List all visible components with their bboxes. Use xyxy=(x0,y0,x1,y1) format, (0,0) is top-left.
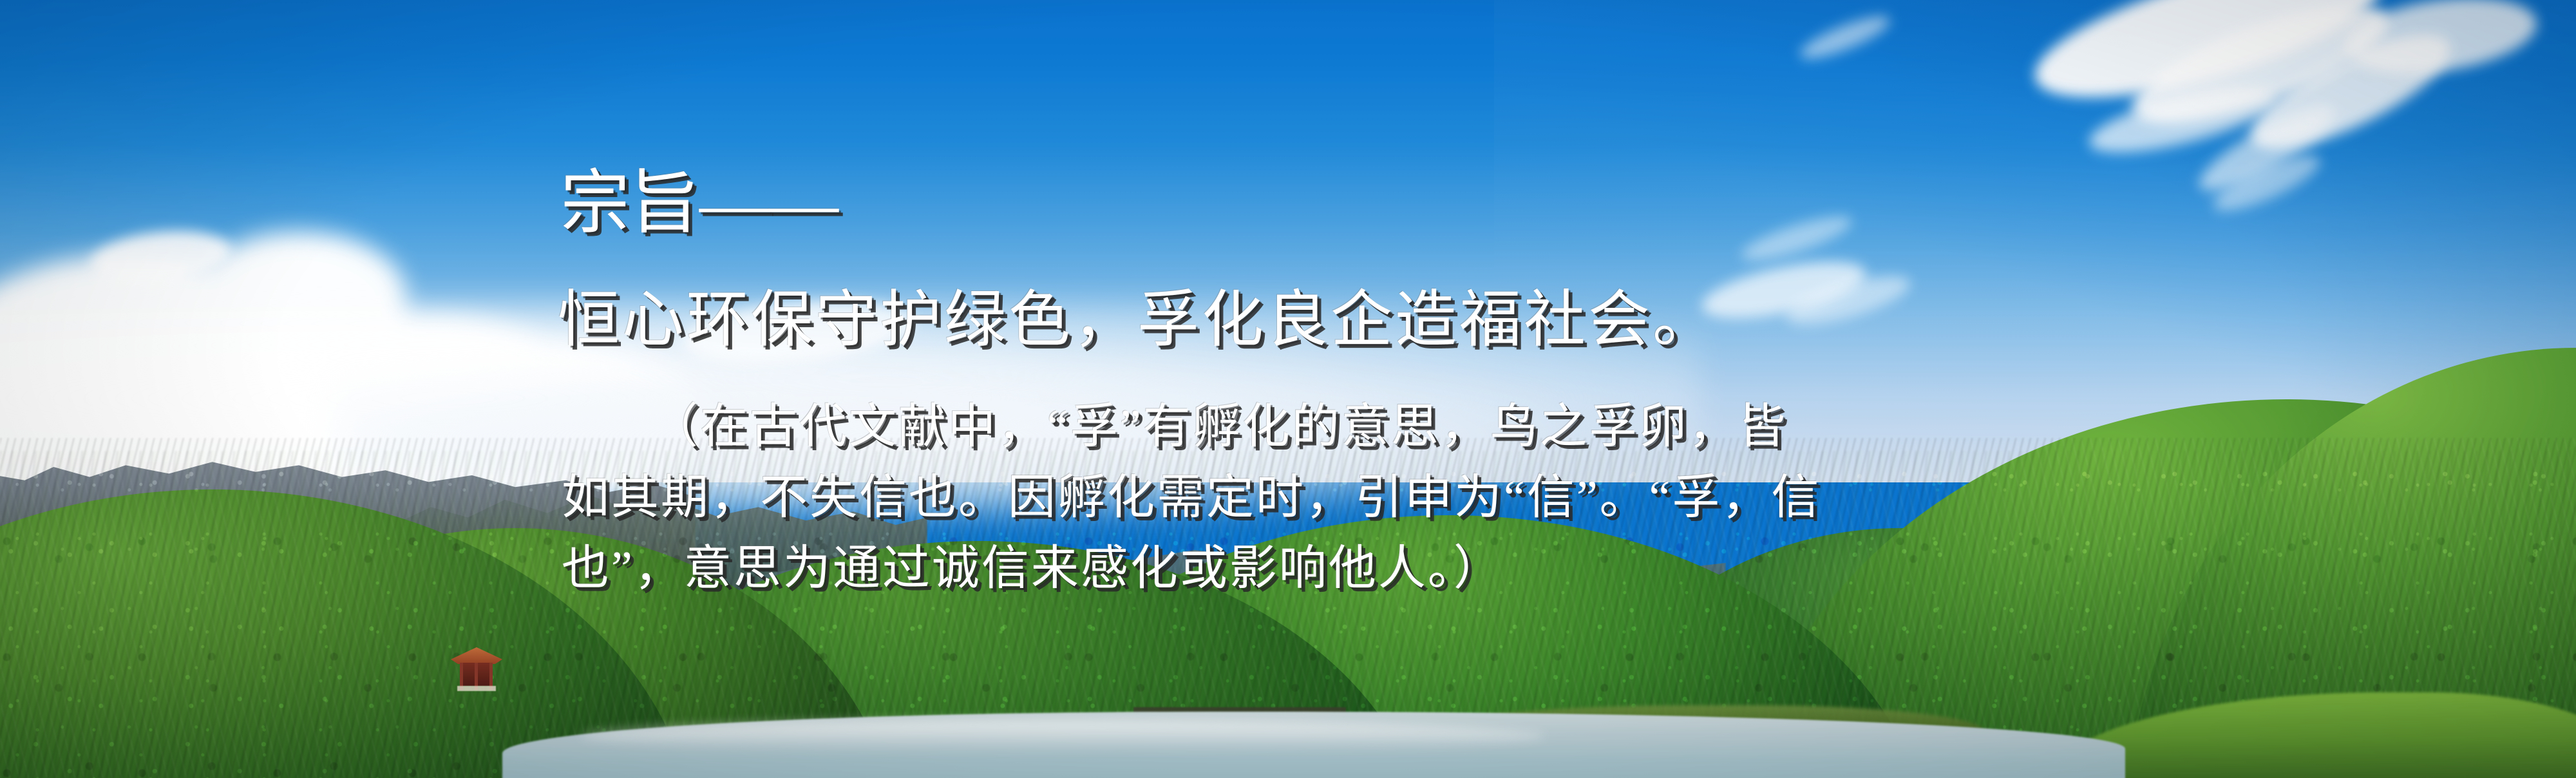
banner-title: 宗旨—— xyxy=(560,147,838,247)
lake-reflection-sheen xyxy=(580,720,1546,752)
pavilion-base xyxy=(457,686,496,691)
pavilion-roof xyxy=(451,647,502,664)
banner-slogan: 恒心环保守护绿色，孚化良企造福社会。 xyxy=(558,269,1717,359)
red-pavilion xyxy=(451,647,502,695)
banner-note-line-1: （在古代文献中，“孚”有孵化的意思，鸟之孚卵，皆 xyxy=(650,388,1788,457)
banner-note-line-2: 如其期，不失信也。因孵化需定时，引申为“信”。“孚，信 xyxy=(562,459,1821,527)
banner-note-line-3: 也”，意思为通过诚信来感化或影响他人。） xyxy=(562,529,1503,598)
hero-banner: 宗旨—— 恒心环保守护绿色，孚化良企造福社会。 （在古代文献中，“孚”有孵化的意… xyxy=(0,0,2576,778)
